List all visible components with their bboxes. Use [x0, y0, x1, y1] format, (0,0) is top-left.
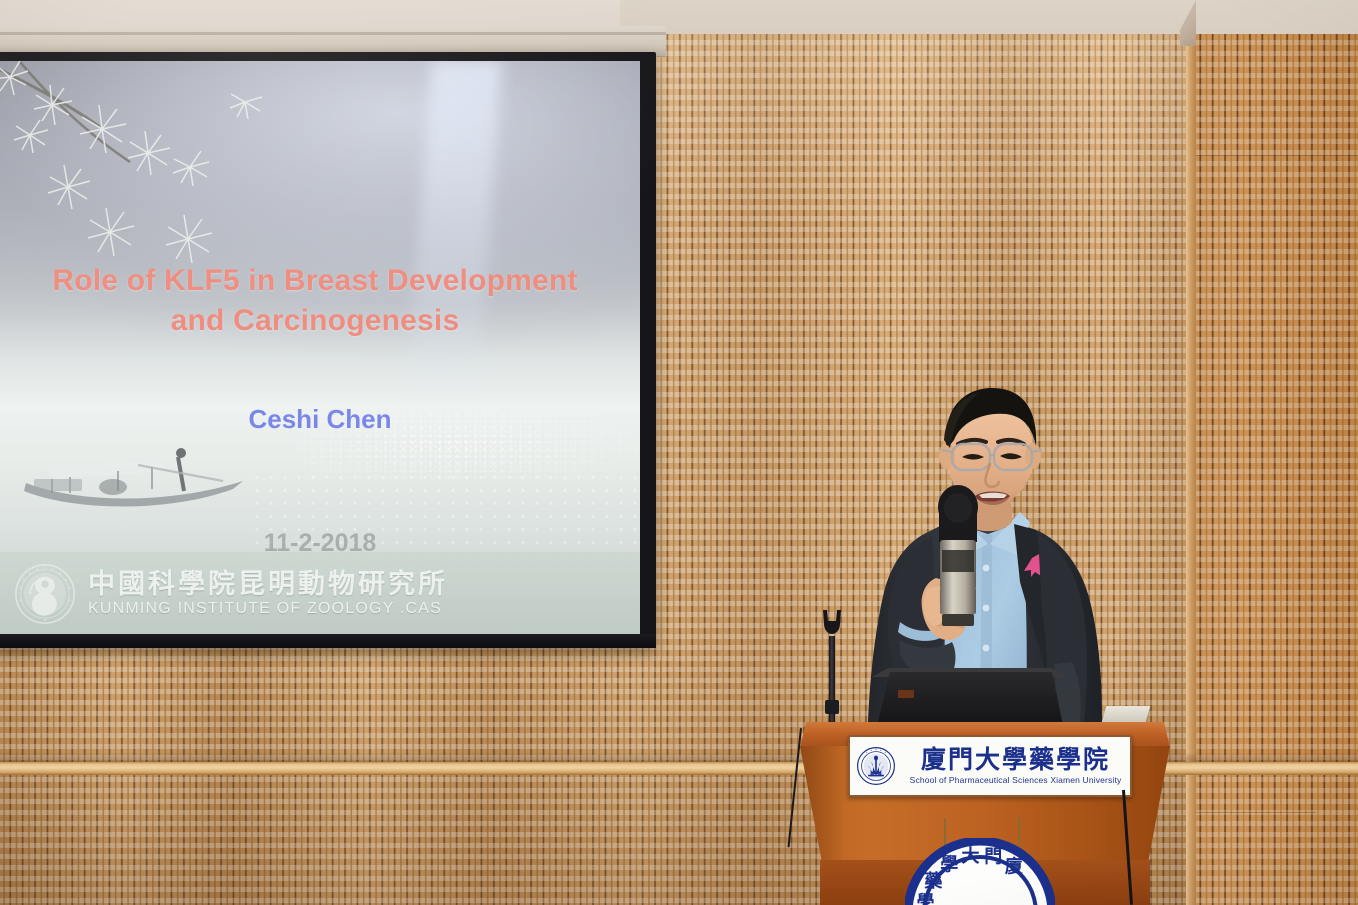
svg-text:門: 門 — [984, 847, 1002, 868]
xiamen-university-crest: 藥 學 大 門 廈 學 — [905, 838, 1055, 905]
xmu-pharmacy-logo-icon — [856, 746, 896, 786]
slide-title: Role of KLF5 in Breast Development and C… — [0, 261, 640, 340]
institute-text: 中國科學院昆明動物研究所 KUNMING INSTITUTE OF ZOOLOG… — [88, 570, 448, 619]
mic-stand-pole — [829, 636, 835, 730]
papers-stack — [1102, 706, 1151, 722]
institute-name-cn: 中國科學院昆明動物研究所 — [88, 570, 448, 600]
svg-text:大: 大 — [961, 845, 979, 867]
wall-seam-lower — [1196, 812, 1316, 813]
svg-text:廈: 廈 — [1005, 856, 1024, 878]
laptop-logo — [898, 690, 914, 698]
kiz-logo-icon — [14, 563, 76, 625]
slide-author: Ceshi Chen — [0, 404, 640, 435]
slide-title-line-1: Role of KLF5 in Breast Development — [52, 264, 577, 297]
mic-stand-joint — [825, 700, 839, 714]
mic-stand-clip-icon — [820, 608, 844, 638]
lecture-photo: Role of KLF5 in Breast Development and C… — [0, 0, 1358, 905]
svg-text:學: 學 — [917, 892, 935, 905]
laptop[interactable] — [876, 672, 1064, 730]
slide-title-line-2: and Carcinogenesis — [0, 301, 640, 341]
microphone-icon — [938, 485, 978, 626]
wall-seam-upper — [1196, 155, 1358, 156]
institute-name-en: KUNMING INSTITUTE OF ZOOLOGY .CAS — [88, 600, 448, 618]
projection-screen: Role of KLF5 in Breast Development and C… — [0, 61, 640, 636]
podium-sign: 廈門大學藥學院 School of Pharmaceutical Science… — [848, 735, 1132, 797]
podium-sign-text: 廈門大學藥學院 School of Pharmaceutical Science… — [901, 747, 1130, 785]
podium-sign-cn: 廈門大學藥學院 — [901, 747, 1130, 772]
institute-band: 中國科學院昆明動物研究所 KUNMING INSTITUTE OF ZOOLOG… — [0, 552, 640, 636]
wall-seam-left — [660, 660, 661, 762]
svg-text:學: 學 — [940, 854, 958, 875]
projection-screen-frame: Role of KLF5 in Breast Development and C… — [0, 52, 656, 648]
podium-sign-en: School of Pharmaceutical Sciences Xiamen… — [901, 775, 1130, 785]
